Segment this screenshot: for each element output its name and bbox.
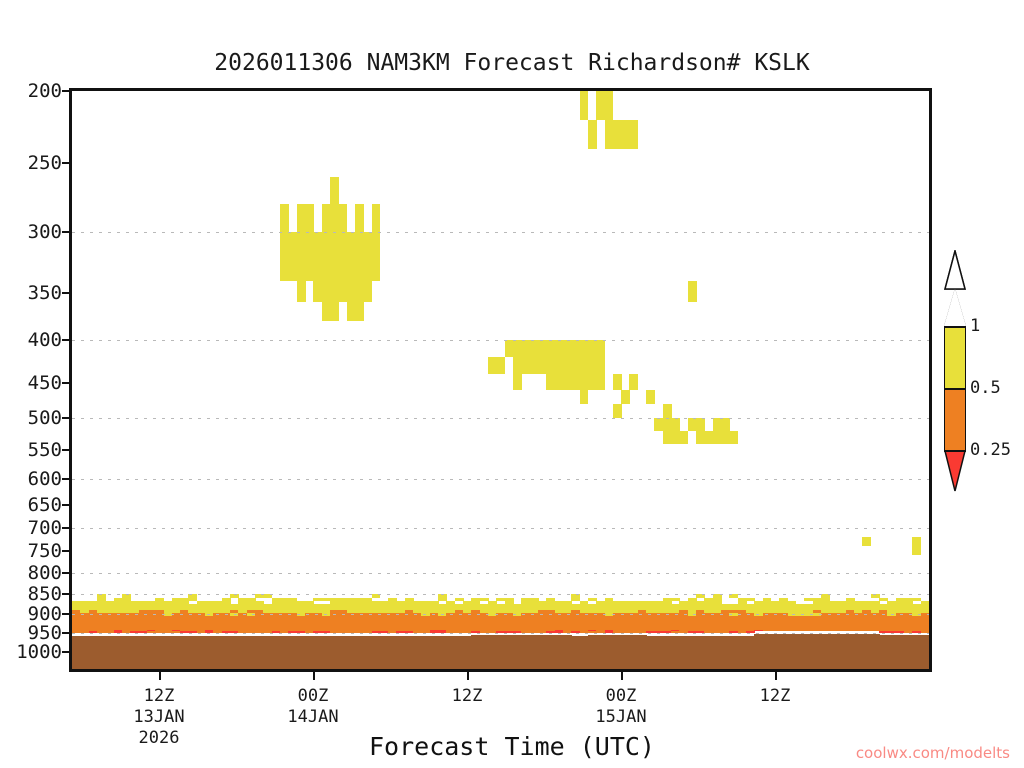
y-tick-label: 550: [28, 439, 62, 461]
legend-rule: [944, 388, 966, 390]
x-tick-line: 15JAN: [595, 707, 646, 728]
legend-label: 0.25: [970, 440, 1011, 460]
y-tick-label: 600: [28, 468, 62, 490]
terrain-column: [921, 635, 930, 669]
x-tick-line: 12Z: [133, 686, 184, 707]
legend-label: 0.5: [970, 378, 1001, 398]
x-tick-line: 12Z: [760, 686, 791, 707]
x-tick-mark: [313, 672, 315, 680]
y-tick-label: 750: [28, 540, 62, 562]
y-tick-label: 650: [28, 494, 62, 516]
legend-label: 1: [970, 316, 980, 336]
page-title: 2026011306 NAM3KM Forecast Richardson# K…: [0, 50, 1024, 76]
y-tick-label: 300: [28, 221, 62, 243]
legend-rule: [944, 326, 966, 328]
y-tick-label: 1000: [16, 641, 62, 663]
x-axis-ticks: [69, 672, 932, 682]
plot-area[interactable]: [69, 88, 932, 672]
y-tick-label: 850: [28, 583, 62, 605]
x-tick-mark: [159, 672, 161, 680]
x-tick-label: 12Z: [452, 686, 483, 707]
y-tick-label: 200: [28, 80, 62, 102]
x-tick-label: 00Z15JAN: [595, 686, 646, 728]
x-tick-line: 00Z: [595, 686, 646, 707]
y-tick-label: 700: [28, 517, 62, 539]
x-tick-line: 12Z: [452, 686, 483, 707]
legend-arrow-down: [944, 450, 966, 492]
x-tick-mark: [775, 672, 777, 680]
x-tick-line: 13JAN: [133, 707, 184, 728]
x-tick-label: 00Z14JAN: [287, 686, 338, 728]
x-tick-mark: [621, 672, 623, 680]
legend-arrow-up: [944, 288, 966, 326]
x-tick-line: 14JAN: [287, 707, 338, 728]
legend-rule: [944, 450, 966, 452]
y-tick-label: 400: [28, 329, 62, 351]
x-tick-label: 12Z: [760, 686, 791, 707]
legend-swatch: [944, 388, 966, 450]
watermark: coolwx.com/modelts: [856, 744, 1010, 762]
y-tick-label: 800: [28, 562, 62, 584]
y-tick-label: 500: [28, 407, 62, 429]
legend-swatch: [944, 326, 966, 388]
terrain-fill: [72, 91, 929, 669]
x-tick-mark: [467, 672, 469, 680]
y-tick-label: 350: [28, 282, 62, 304]
y-tick-label: 450: [28, 372, 62, 394]
x-tick-line: 00Z: [287, 686, 338, 707]
color-legend[interactable]: 10.50.25: [944, 300, 966, 460]
y-tick-label: 250: [28, 152, 62, 174]
y-axis-labels: 2002503003504004505005506006507007508008…: [0, 88, 62, 672]
